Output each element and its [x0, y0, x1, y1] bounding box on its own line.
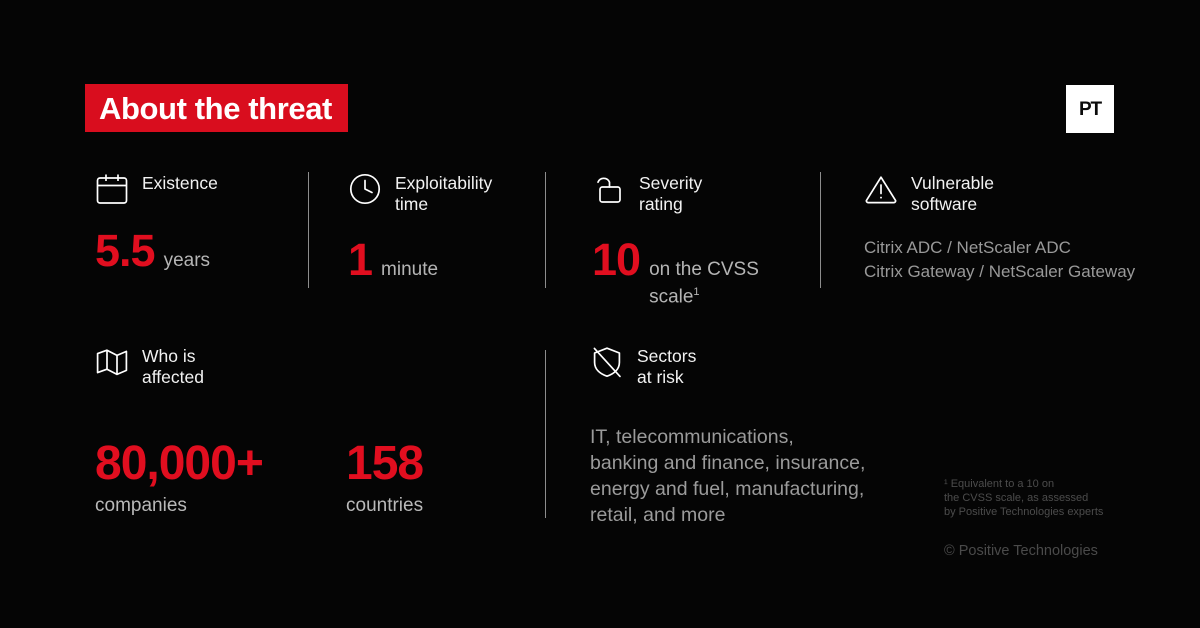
stat-unit: companies	[95, 495, 263, 517]
map-icon	[95, 345, 129, 379]
copyright-notice: © Positive Technologies	[944, 543, 1098, 560]
sectors-at-risk-text: IT, telecommunications, banking and fina…	[590, 424, 920, 528]
logo-text: PT	[1079, 100, 1101, 119]
stat-number: 1	[348, 237, 372, 282]
stat-label: Exploitability time	[395, 172, 492, 215]
stat-header: Sectors at risk	[590, 345, 696, 388]
stat-value-group: 158 countries	[346, 440, 423, 517]
stat-value-group: 1 minute	[348, 237, 492, 282]
divider-vertical-1	[308, 172, 309, 288]
stat-header: Exploitability time	[348, 172, 492, 215]
stat-value-group: 80,000+ companies	[95, 440, 263, 517]
stat-label: Severity rating	[639, 172, 702, 215]
divider-vertical-2	[545, 172, 546, 288]
shield-slash-icon	[590, 345, 624, 379]
stat-unit: on the CVSSscale1	[649, 259, 759, 308]
cvss-footnote: ¹ Equivalent to a 10 on the CVSS scale, …	[944, 477, 1144, 519]
page-title: About the threat	[99, 93, 332, 124]
warning-triangle-icon	[864, 172, 898, 206]
footnote-marker: 1	[693, 286, 699, 298]
stat-number: 5.5	[95, 228, 155, 273]
stat-existence: Existence 5.5 years	[95, 172, 218, 273]
stat-unit: countries	[346, 495, 423, 517]
calendar-icon	[95, 172, 129, 206]
stat-header: Existence	[95, 172, 218, 206]
stat-header: Vulnerable software	[864, 172, 994, 215]
unlocked-padlock-icon	[592, 172, 626, 206]
stat-label: Existence	[142, 172, 218, 194]
infographic-canvas: About the threat PT Existence 5.5 years	[0, 0, 1200, 628]
page-title-banner: About the threat	[85, 84, 348, 132]
stat-label: Vulnerable software	[911, 172, 994, 215]
positive-technologies-logo: PT	[1066, 85, 1114, 133]
divider-vertical-3	[820, 172, 821, 288]
stat-unit-line2: scale	[649, 286, 693, 307]
stat-sectors-at-risk: Sectors at risk	[590, 345, 696, 388]
stat-header: Severity rating	[592, 172, 759, 215]
stat-header: Who is affected	[95, 345, 204, 388]
stat-unit-line1: on the CVSS	[649, 259, 759, 280]
stat-number: 80,000+	[95, 440, 263, 488]
stat-severity-rating: Severity rating 10 on the CVSSscale1	[592, 172, 759, 308]
stat-countries: 158 countries	[346, 418, 423, 517]
stat-exploitability-time: Exploitability time 1 minute	[348, 172, 492, 282]
stat-number: 10	[592, 237, 640, 282]
vulnerable-software-list: Citrix ADC / NetScaler ADC Citrix Gatewa…	[864, 236, 1164, 284]
stat-number: 158	[346, 440, 423, 488]
stat-who-is-affected: Who is affected	[95, 345, 204, 388]
divider-vertical-4	[545, 350, 546, 518]
stat-unit: minute	[381, 259, 438, 281]
stat-label: Who is affected	[142, 345, 204, 388]
stat-value-group: 10 on the CVSSscale1	[592, 237, 759, 308]
stat-companies: 80,000+ companies	[95, 418, 263, 517]
stat-value-group: 5.5 years	[95, 228, 218, 273]
clock-icon	[348, 172, 382, 206]
stat-label: Sectors at risk	[637, 345, 696, 388]
stat-unit: years	[164, 250, 210, 272]
stat-vulnerable-software: Vulnerable software	[864, 172, 994, 215]
